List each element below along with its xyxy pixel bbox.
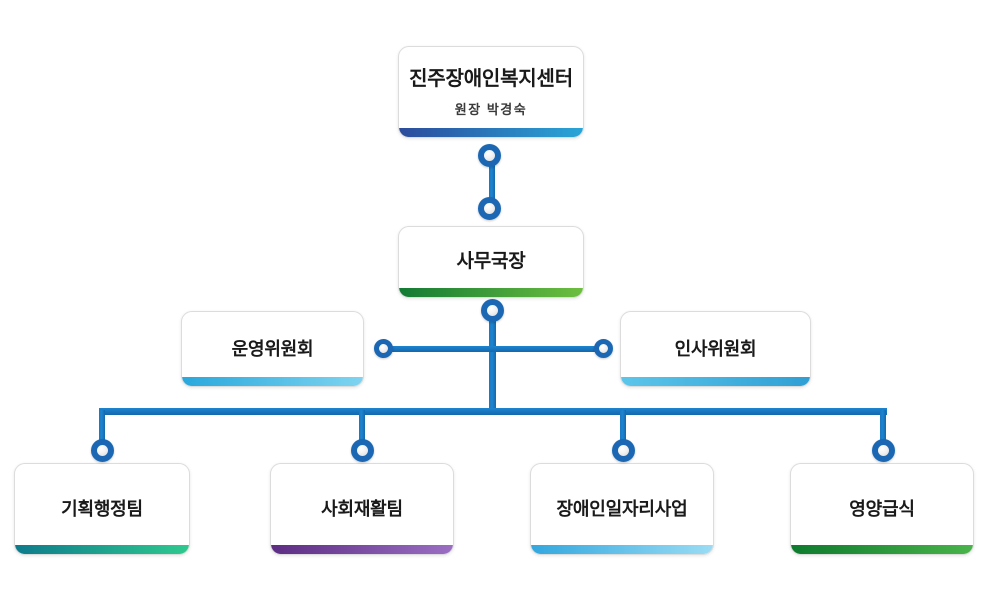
org-node-team[interactable]: 기획행정팀 xyxy=(14,463,190,555)
org-node-operating-committee[interactable]: 운영위원회 xyxy=(181,311,364,387)
org-node-hr-committee-label: 인사위원회 xyxy=(675,338,757,361)
org-node-team[interactable]: 영양급식 xyxy=(790,463,974,555)
org-node-team-accent xyxy=(15,545,189,554)
org-node-director[interactable]: 사무국장 xyxy=(398,226,584,298)
connector-node-hr-committee xyxy=(594,339,613,358)
connector-node-team-3 xyxy=(612,439,635,462)
org-node-team-accent xyxy=(531,545,713,554)
org-node-team-accent xyxy=(271,545,453,554)
org-node-center-sublabel: 원장 박경숙 xyxy=(455,99,527,118)
connector-node-team-2 xyxy=(351,439,374,462)
connector-node-director-bottom xyxy=(481,299,504,322)
org-node-center-accent xyxy=(399,128,583,137)
org-node-team-label: 사회재활팀 xyxy=(321,498,403,521)
connector-team-bus xyxy=(99,408,887,415)
org-node-team[interactable]: 장애인일자리사업 xyxy=(530,463,714,555)
org-node-director-accent xyxy=(399,288,583,297)
org-node-team-label: 기획행정팀 xyxy=(61,498,143,521)
org-node-team-label: 장애인일자리사업 xyxy=(557,498,688,521)
connector-node-operating-committee xyxy=(374,339,393,358)
org-chart: 진주장애인복지센터 원장 박경숙 사무국장 운영위원회 인사위원회 기획행정팀 … xyxy=(0,0,985,615)
connector-committee-left xyxy=(382,346,494,352)
org-node-hr-committee[interactable]: 인사위원회 xyxy=(620,311,811,387)
org-node-team-accent xyxy=(791,545,973,554)
org-node-hr-committee-accent xyxy=(621,377,810,386)
org-node-director-label: 사무국장 xyxy=(456,250,525,274)
connector-node-center-bottom xyxy=(478,144,501,167)
org-node-operating-committee-accent xyxy=(182,377,363,386)
org-node-team-label: 영양급식 xyxy=(849,498,914,521)
org-node-center[interactable]: 진주장애인복지센터 원장 박경숙 xyxy=(398,46,584,138)
connector-node-team-1 xyxy=(91,439,114,462)
connector-node-director-top xyxy=(478,197,501,220)
org-node-center-label: 진주장애인복지센터 xyxy=(409,67,573,92)
org-node-team[interactable]: 사회재활팀 xyxy=(270,463,454,555)
org-node-operating-committee-label: 운영위원회 xyxy=(232,338,314,361)
connector-node-team-4 xyxy=(872,439,895,462)
